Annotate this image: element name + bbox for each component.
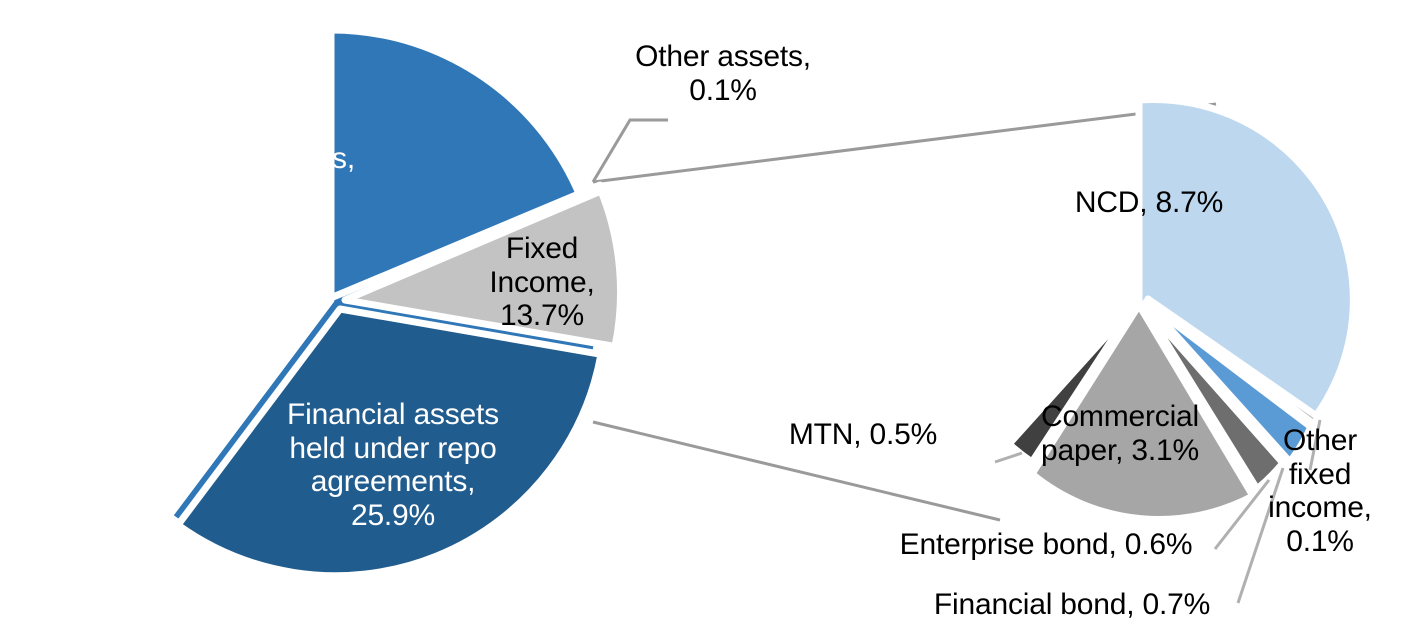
connector-line-top: [593, 104, 1216, 182]
label-enterprise-bond: Enterprise bond, 0.6%: [872, 528, 1220, 562]
label-ncd: NCD, 8.7%: [1056, 186, 1242, 220]
label-financial-bond: Financial bond, 0.7%: [902, 588, 1242, 622]
label-mtn: MTN, 0.5%: [772, 418, 954, 452]
label-commercial-paper: Commercial paper, 3.1%: [1014, 400, 1226, 467]
label-repo-agreements: Financial assets held under repo agreeme…: [262, 398, 524, 532]
label-bank-deposits: Bank deposits, 60.3%: [138, 142, 378, 209]
pie-of-pie-chart: Bank deposits, 60.3% Financial assets he…: [0, 0, 1404, 644]
label-other-assets: Other assets, 0.1%: [612, 40, 834, 107]
label-fixed-income: Fixed Income, 13.7%: [472, 232, 612, 333]
label-other-fixed-income: Other fixed income, 0.1%: [1254, 424, 1386, 558]
